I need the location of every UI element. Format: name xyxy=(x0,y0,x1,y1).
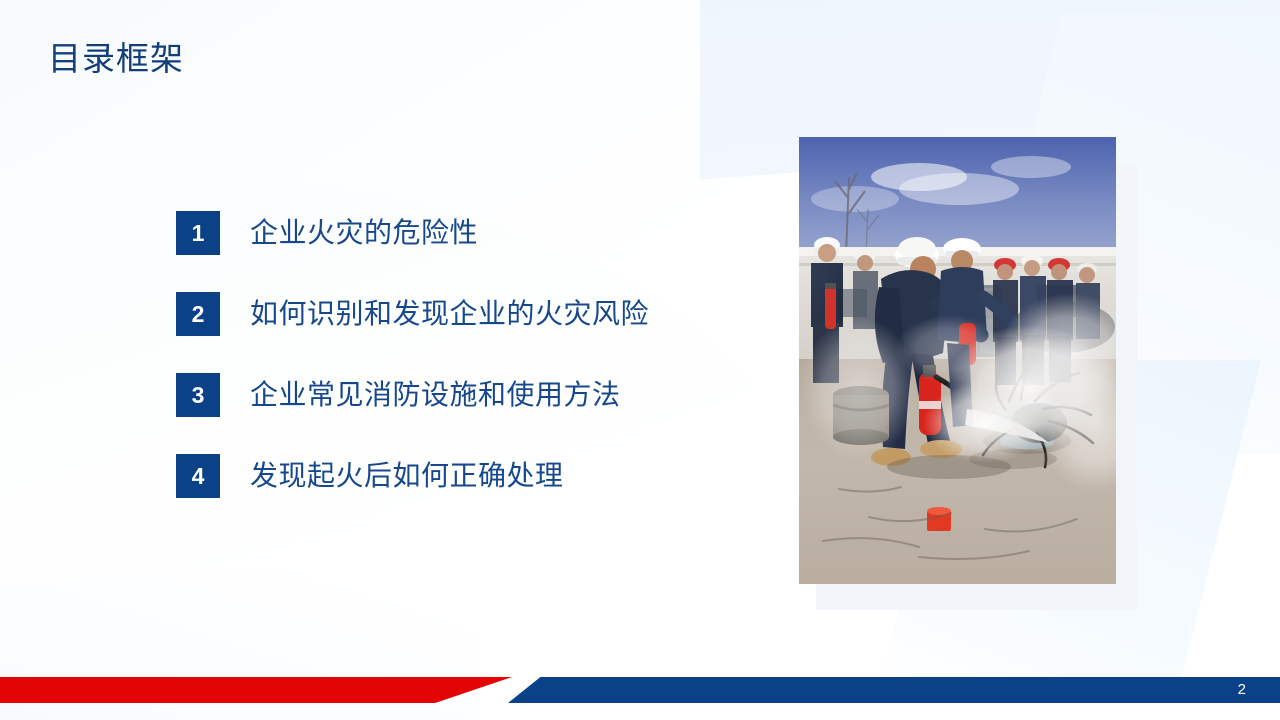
agenda-number-badge-1: 1 xyxy=(176,211,220,255)
fire-extinguisher-training-photo xyxy=(799,137,1116,584)
agenda-item-3[interactable]: 3 企业常见消防设施和使用方法 xyxy=(176,373,776,417)
agenda-list: 1 企业火灾的危险性 2 如何识别和发现企业的火灾风险 3 企业常见消防设施和使… xyxy=(176,211,776,498)
page-number: 2 xyxy=(1238,678,1246,702)
footer-red-accent xyxy=(0,677,512,703)
agenda-item-2[interactable]: 2 如何识别和发现企业的火灾风险 xyxy=(176,292,776,336)
agenda-item-4[interactable]: 4 发现起火后如何正确处理 xyxy=(176,454,776,498)
page-title: 目录框架 xyxy=(48,38,184,79)
agenda-label-4: 发现起火后如何正确处理 xyxy=(250,459,564,493)
photo-block xyxy=(799,137,1116,584)
agenda-item-1[interactable]: 1 企业火灾的危险性 xyxy=(176,211,776,255)
agenda-number-badge-3: 3 xyxy=(176,373,220,417)
agenda-number-badge-4: 4 xyxy=(176,454,220,498)
agenda-label-1: 企业火灾的危险性 xyxy=(250,216,478,250)
slide-root: 目录框架 1 企业火灾的危险性 2 如何识别和发现企业的火灾风险 3 企业常见消… xyxy=(0,0,1280,720)
agenda-label-2: 如何识别和发现企业的火灾风险 xyxy=(250,297,649,331)
footer-navy-accent xyxy=(508,677,1280,703)
footer-bar: 2 xyxy=(0,660,1280,720)
agenda-label-3: 企业常见消防设施和使用方法 xyxy=(250,378,621,412)
agenda-number-badge-2: 2 xyxy=(176,292,220,336)
